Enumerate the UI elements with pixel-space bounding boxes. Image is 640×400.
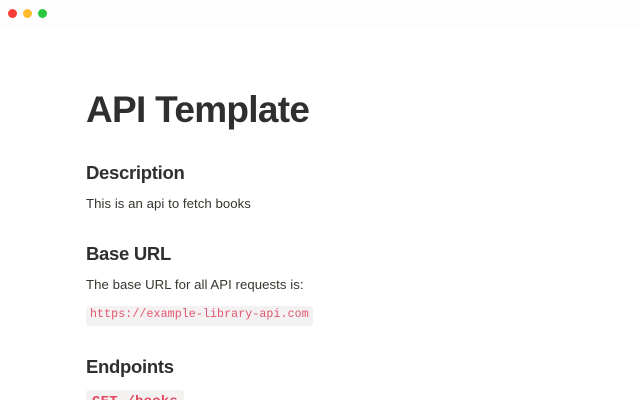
section-heading-base-url: Base URL	[86, 242, 600, 266]
code-line-endpoint: GET /books	[86, 390, 600, 400]
section-heading-description: Description	[86, 161, 600, 185]
section-paragraph-base-url: The base URL for all API requests is:	[86, 275, 600, 294]
code-line-base-url: https://example-library-api.com	[86, 305, 600, 326]
window-controls	[8, 9, 47, 18]
window-titlebar	[0, 0, 640, 26]
section-endpoints: Endpoints GET /books Returns a list of a…	[86, 355, 600, 400]
section-paragraph-description: This is an api to fetch books	[86, 194, 600, 213]
page-title: API Template	[86, 88, 600, 132]
maximize-dot-icon[interactable]	[38, 9, 47, 18]
code-endpoint-get-books[interactable]: GET /books	[86, 390, 184, 400]
minimize-dot-icon[interactable]	[23, 9, 32, 18]
document-body: API Template Description This is an api …	[0, 26, 640, 400]
section-heading-endpoints: Endpoints	[86, 355, 600, 379]
document-scroll-area[interactable]: API Template Description This is an api …	[0, 26, 640, 400]
section-base-url: Base URL The base URL for all API reques…	[86, 242, 600, 326]
app-window: API Template Description This is an api …	[0, 0, 640, 400]
close-dot-icon[interactable]	[8, 9, 17, 18]
code-base-url[interactable]: https://example-library-api.com	[86, 306, 313, 326]
section-description: Description This is an api to fetch book…	[86, 161, 600, 213]
